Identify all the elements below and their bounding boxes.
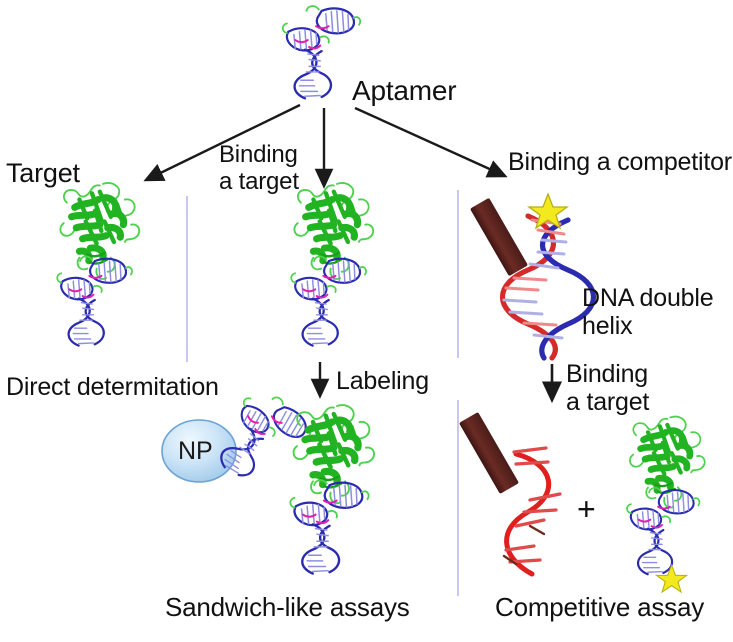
plus-sign: + [577,492,596,528]
divider-left-upper [186,196,188,362]
dna-double-helix-label: DNA double helix [582,284,713,340]
diagram-canvas: Aptamer Target Binding a target Binding … [0,0,733,642]
competitive-assay-caption: Competitive assay [495,593,704,622]
fluorophore-star-icon-lower [657,565,687,592]
labeling-label: Labeling [336,367,429,395]
divider-right-upper [457,190,459,358]
sandwich-like-assays-caption: Sandwich-like assays [165,593,410,622]
sandwich-complex-icon [268,398,400,590]
labeled-complex-icon [608,410,732,592]
arrow-to-binding-a-competitor [355,108,505,176]
direct-determitation-caption: Direct determitation [6,373,219,401]
protein-aptamer-complex-icon [272,176,396,364]
surface-bar-icon-lower [459,412,519,494]
protein-target-icon [38,176,162,364]
divider-right-lower [457,400,459,596]
binding-a-competitor-label: Binding a competitor [508,148,732,176]
